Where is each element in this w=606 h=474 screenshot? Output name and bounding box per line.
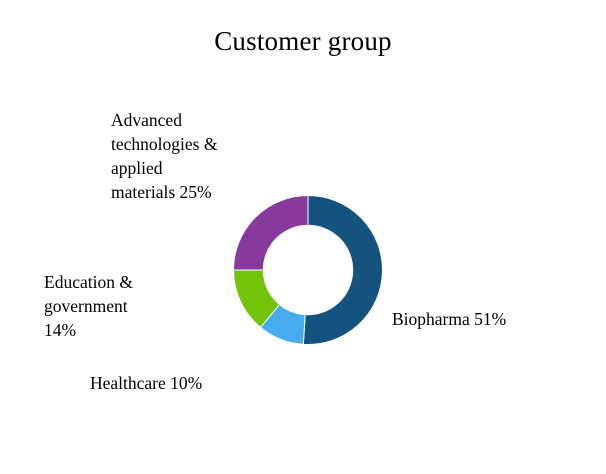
donut-slice-biopharma[interactable]: [303, 196, 382, 345]
slice-label-biopharma: Biopharma 51%: [392, 307, 592, 331]
chart-title: Customer group: [0, 24, 606, 58]
donut-chart: [233, 195, 383, 345]
slice-label-education-government: Education & government 14%: [44, 270, 174, 342]
slice-label-healthcare: Healthcare 10%: [90, 371, 270, 395]
donut-chart-svg: [233, 195, 383, 345]
slide-canvas: Customer group Advanced technologies & a…: [0, 0, 606, 474]
slice-label-advanced-technologies: Advanced technologies & applied material…: [111, 108, 259, 204]
donut-slice-advanced-technologies-applied-materials[interactable]: [234, 196, 309, 271]
donut-slice-group: [234, 196, 383, 345]
